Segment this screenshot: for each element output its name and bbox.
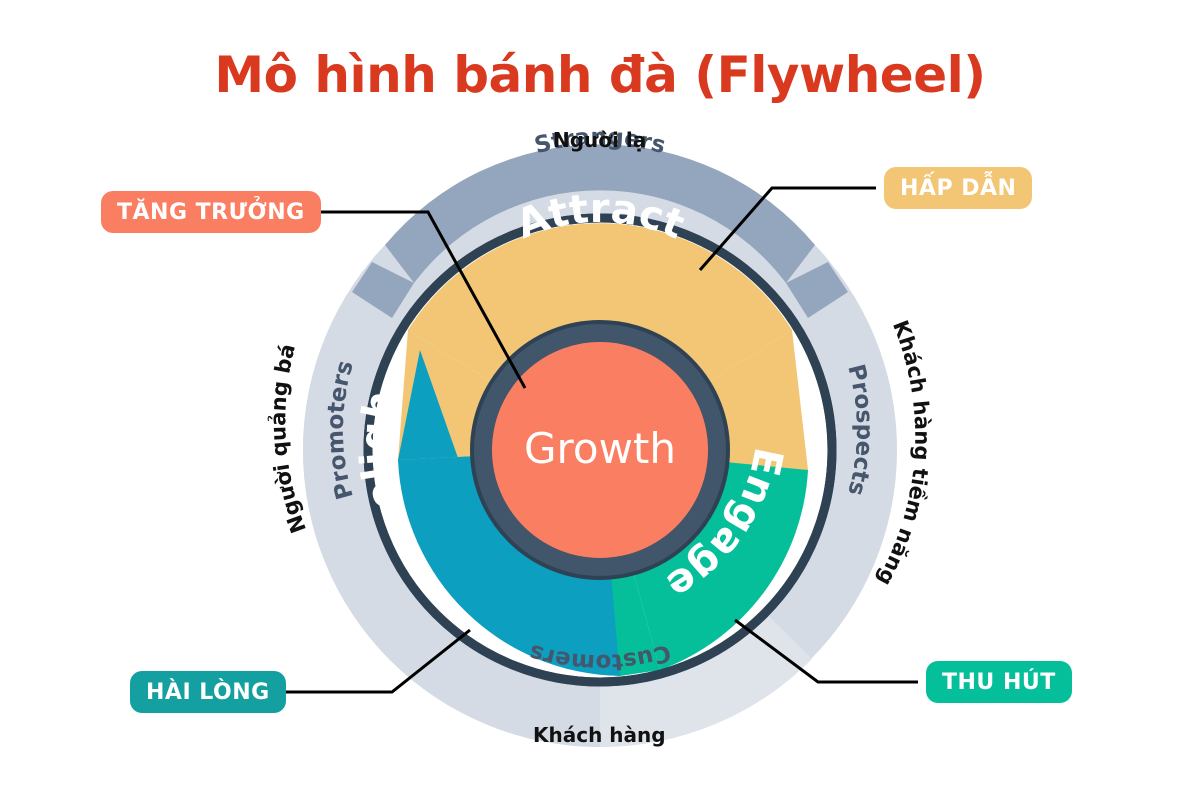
stage-label-vi-customers: Khách hàng (533, 723, 666, 747)
flywheel-diagram: Mô hình bánh đà (Flywheel) (0, 0, 1200, 800)
callout-pill-attract[interactable]: HẤP DẪN (884, 167, 1032, 209)
callout-pill-delight[interactable]: HÀI LÒNG (130, 671, 286, 713)
callout-pill-growth[interactable]: TĂNG TRƯỞNG (101, 191, 321, 233)
stage-label-vi-strangers: Người lạ (553, 128, 646, 152)
callout-pill-engage[interactable]: THU HÚT (926, 661, 1072, 703)
growth-label-text: Growth (524, 424, 676, 473)
growth-label: Growth (524, 424, 676, 473)
